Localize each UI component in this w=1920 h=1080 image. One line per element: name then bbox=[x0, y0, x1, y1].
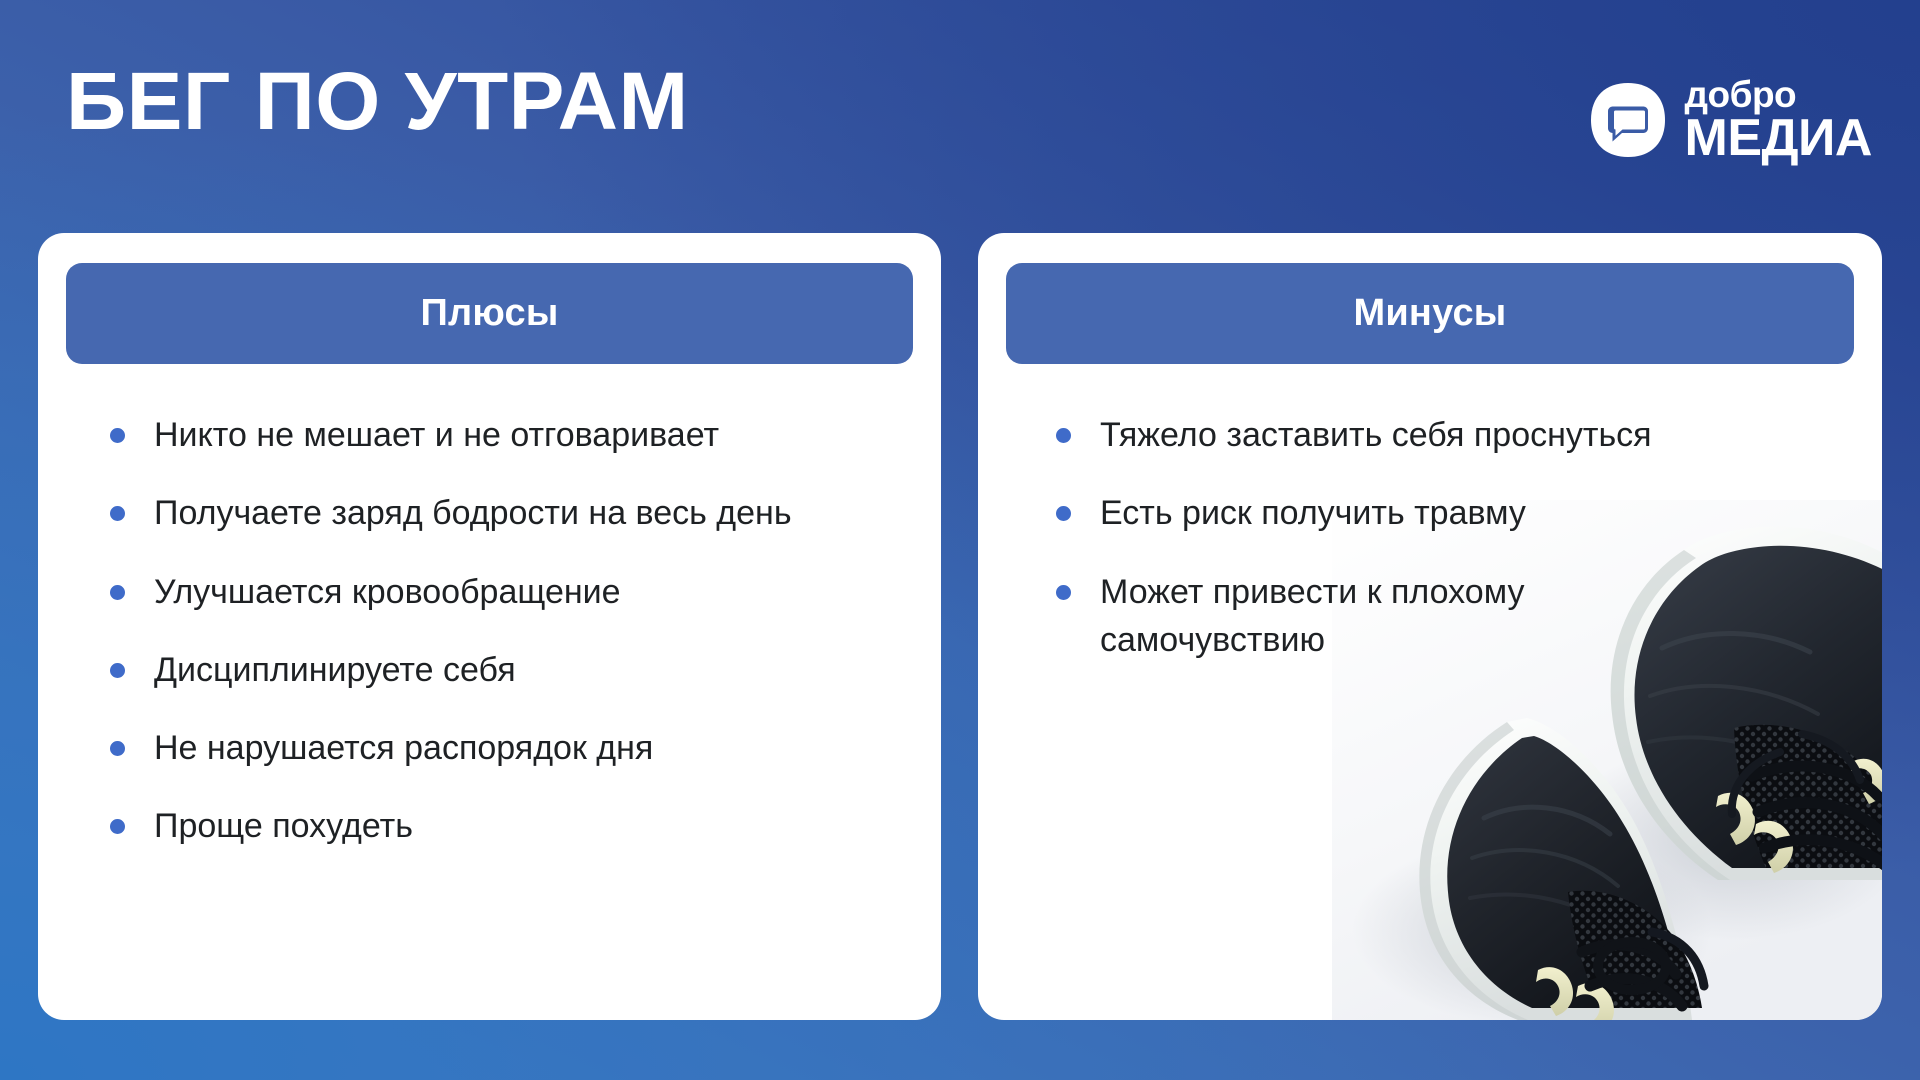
list-item: Получаете заряд бодрости на весь день bbox=[110, 489, 810, 537]
list-item: Есть риск получить травму bbox=[1056, 489, 1716, 537]
pros-header-label: Плюсы bbox=[421, 292, 559, 335]
logo-line-media: МЕДИА bbox=[1685, 114, 1872, 163]
brand-logo: добро МЕДИА bbox=[1588, 78, 1872, 163]
logo-wordmark: добро МЕДИА bbox=[1685, 78, 1872, 163]
list-item: Может привести к плохому самочувствию bbox=[1056, 568, 1716, 665]
comparison-columns: Плюсы Никто не мешает и не отговаривает … bbox=[38, 233, 1882, 1020]
poster-canvas: БЕГ ПО УТРАМ добро МЕДИА Плюсы Никто не … bbox=[0, 0, 1920, 1080]
list-item: Никто не мешает и не отговаривает bbox=[110, 411, 810, 459]
logo-line-dobro: добро bbox=[1685, 78, 1797, 113]
list-item: Дисциплинируете себя bbox=[110, 646, 810, 694]
cons-header-label: Минусы bbox=[1354, 292, 1507, 335]
speech-bubble-icon bbox=[1588, 80, 1668, 160]
list-item: Тяжело заставить себя проснуться bbox=[1056, 411, 1716, 459]
list-item: Проще похудеть bbox=[110, 802, 810, 850]
list-item: Улучшается кровообращение bbox=[110, 568, 810, 616]
pros-header: Плюсы bbox=[66, 263, 913, 364]
pros-card: Плюсы Никто не мешает и не отговаривает … bbox=[38, 233, 941, 1020]
cons-card: Минусы Тяжело заставить себя проснуться … bbox=[978, 233, 1882, 1020]
list-item: Не нарушается распорядок дня bbox=[110, 724, 810, 772]
page-title: БЕГ ПО УТРАМ bbox=[66, 60, 689, 144]
cons-list: Тяжело заставить себя проснуться Есть ри… bbox=[978, 411, 1882, 694]
cons-header: Минусы bbox=[1006, 263, 1854, 364]
pros-list: Никто не мешает и не отговаривает Получа… bbox=[38, 411, 941, 881]
